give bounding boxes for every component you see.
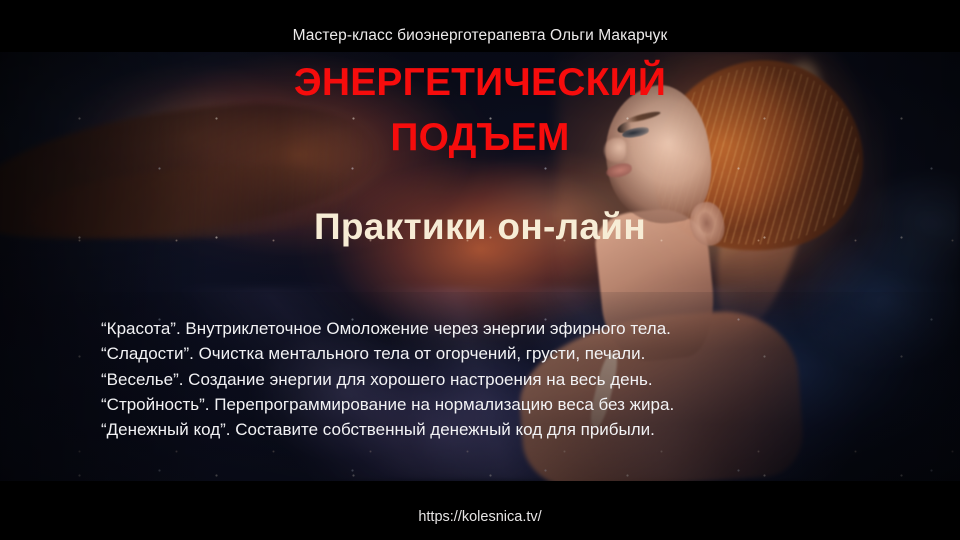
promo-slide: ЭНЕРГЕТИЧЕСКИЙ ПОДЪЕМ Практики он-лайн “… <box>0 0 960 540</box>
headline-line-2: ПОДЪЕМ <box>0 112 960 164</box>
website-url: https://kolesnica.tv/ <box>0 509 960 525</box>
list-item: “Сладости”. Очистка ментального тела от … <box>101 341 859 366</box>
practice-list: “Красота”. Внутриклеточное Омоложение че… <box>101 316 859 442</box>
list-item: “Денежный код”. Составите собственный де… <box>101 417 859 442</box>
list-item: “Красота”. Внутриклеточное Омоложение че… <box>101 316 859 341</box>
list-item: “Стройность”. Перепрограммирование на но… <box>101 392 859 417</box>
master-class-subtitle: Мастер-класс биоэнерготерапевта Ольги Ма… <box>0 27 960 45</box>
list-item: “Веселье”. Создание энергии для хорошего… <box>101 367 859 392</box>
subheadline: Практики он-лайн <box>0 206 960 248</box>
headline-line-1: ЭНЕРГЕТИЧЕСКИЙ <box>0 57 960 109</box>
